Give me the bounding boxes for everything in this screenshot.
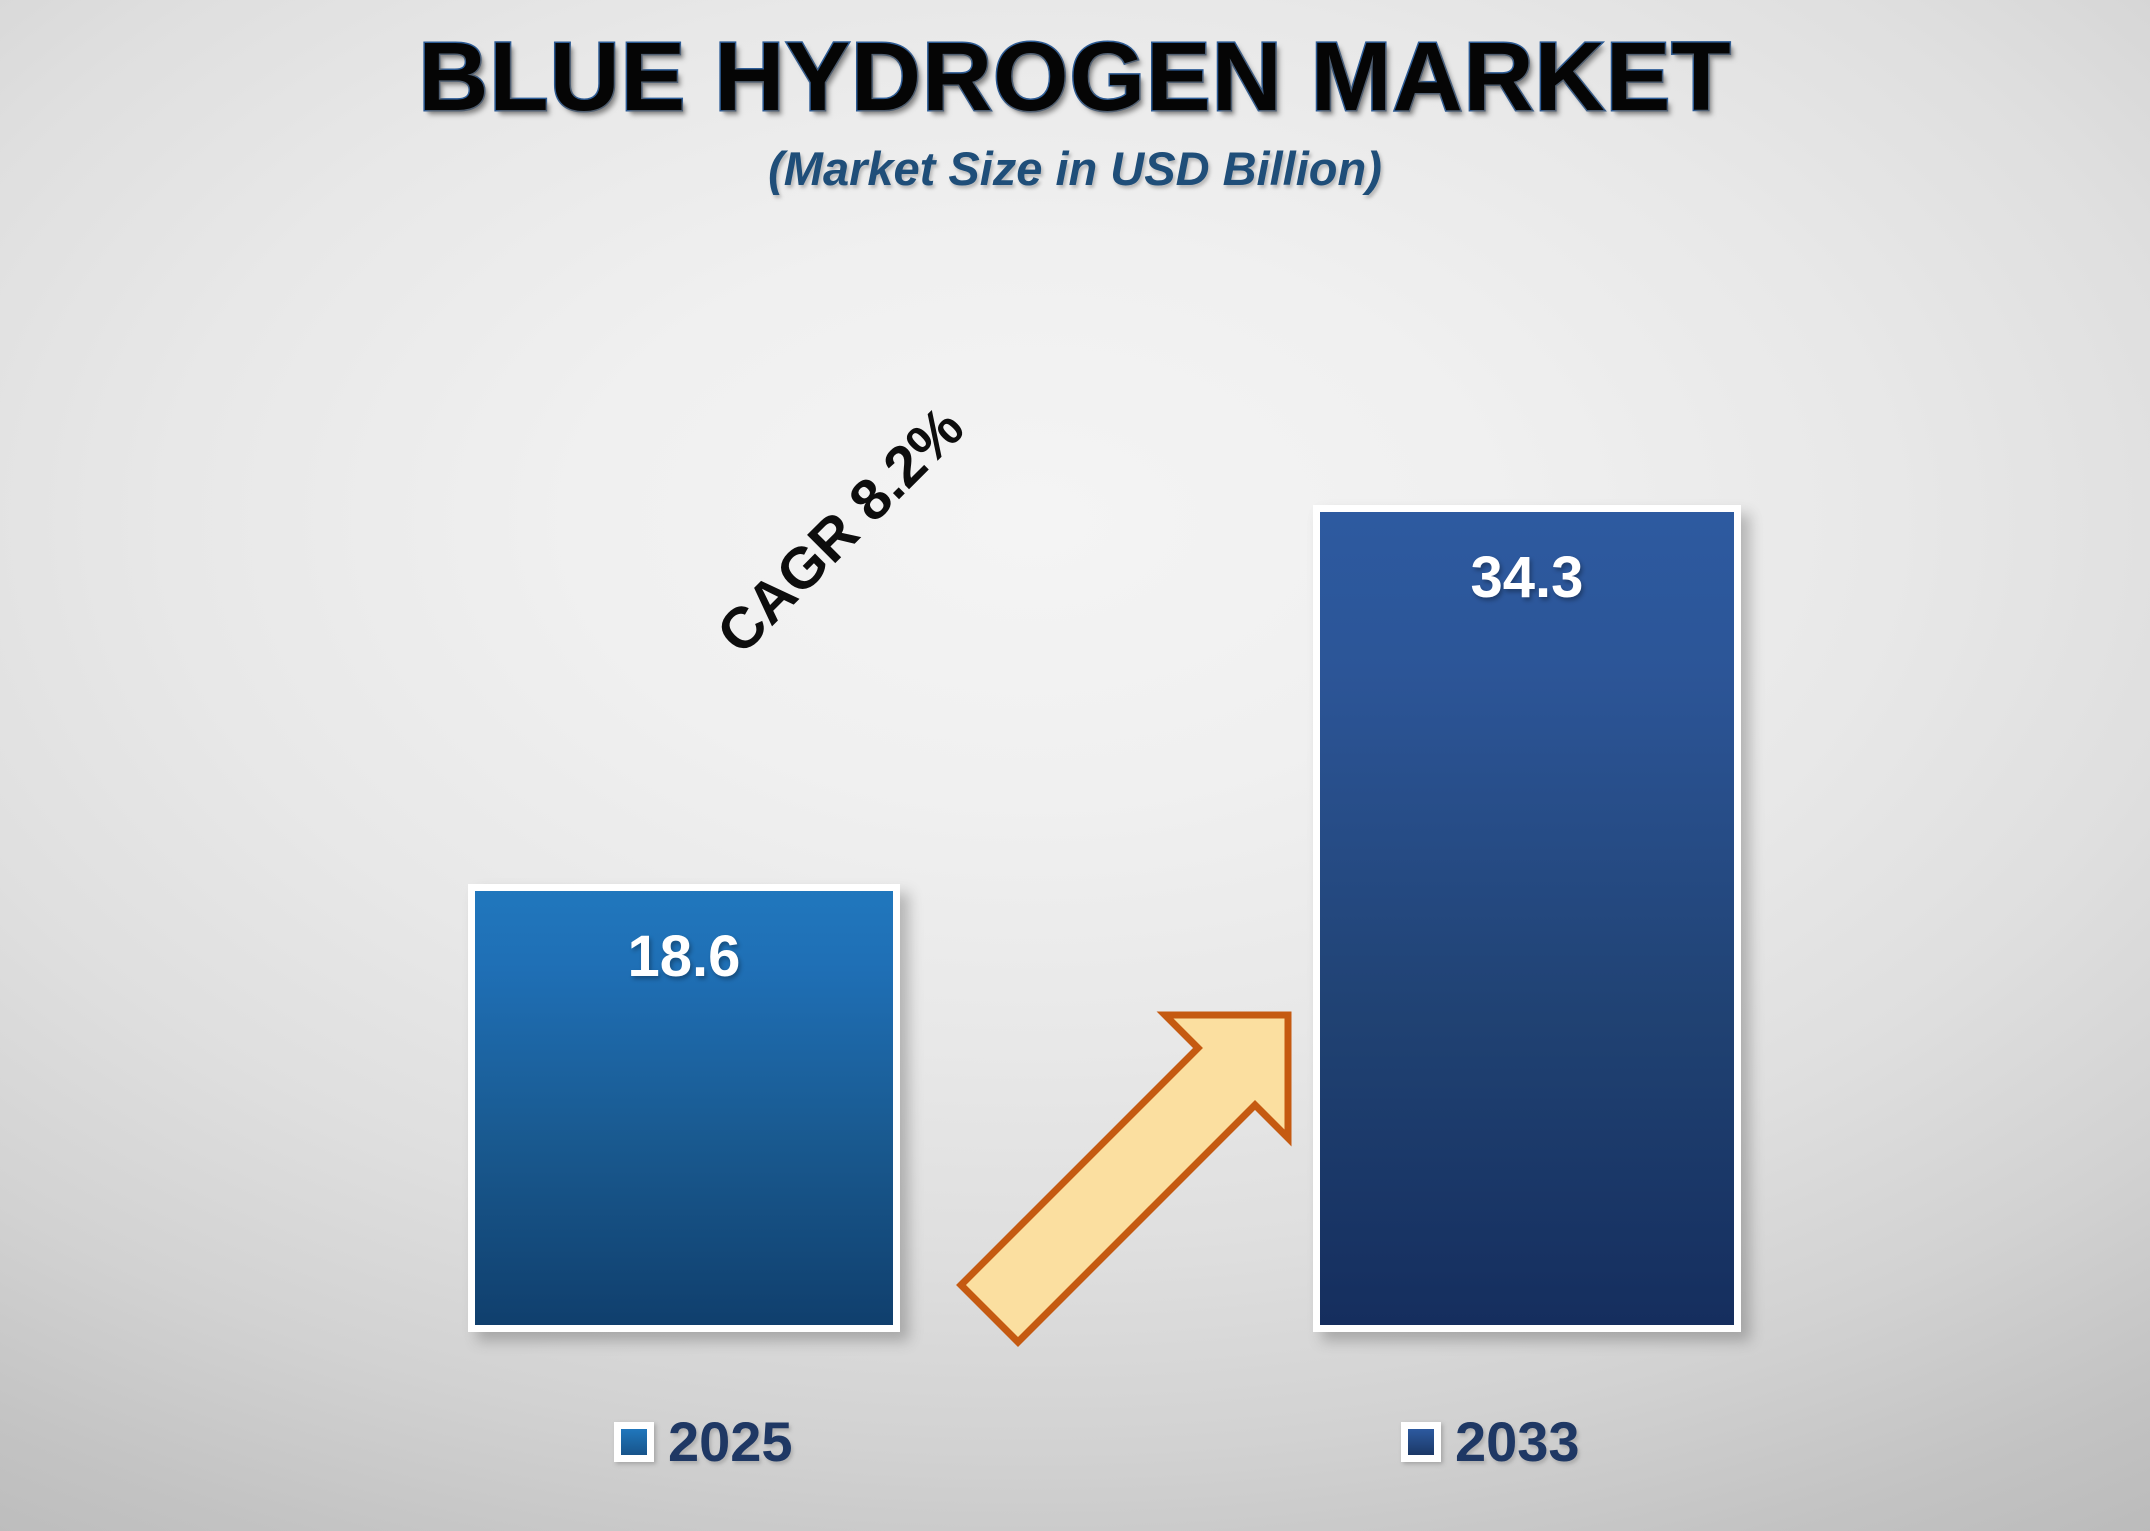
legend-label-2033: 2033	[1455, 1414, 1580, 1470]
legend-label-2025: 2025	[668, 1414, 793, 1470]
page-title: BLUE HYDROGEN MARKET	[0, 28, 2150, 127]
page-subtitle: (Market Size in USD Billion)	[0, 141, 2150, 196]
cagr-growth-arrow-icon	[845, 455, 1145, 785]
bar-value-2025: 18.6	[475, 923, 893, 990]
bar-value-2033: 34.3	[1320, 544, 1734, 611]
chart-canvas: BLUE HYDROGEN MARKET (Market Size in USD…	[0, 0, 2150, 1531]
legend-item-2025[interactable]: 2025	[614, 1414, 793, 1470]
legend-item-2033[interactable]: 2033	[1401, 1414, 1580, 1470]
bar-2033: 34.3	[1313, 505, 1741, 1332]
legend-swatch-2033-icon	[1401, 1422, 1441, 1462]
legend-swatch-2025-icon	[614, 1422, 654, 1462]
title-block: BLUE HYDROGEN MARKET (Market Size in USD…	[0, 28, 2150, 196]
bar-2025: 18.6	[468, 884, 900, 1332]
